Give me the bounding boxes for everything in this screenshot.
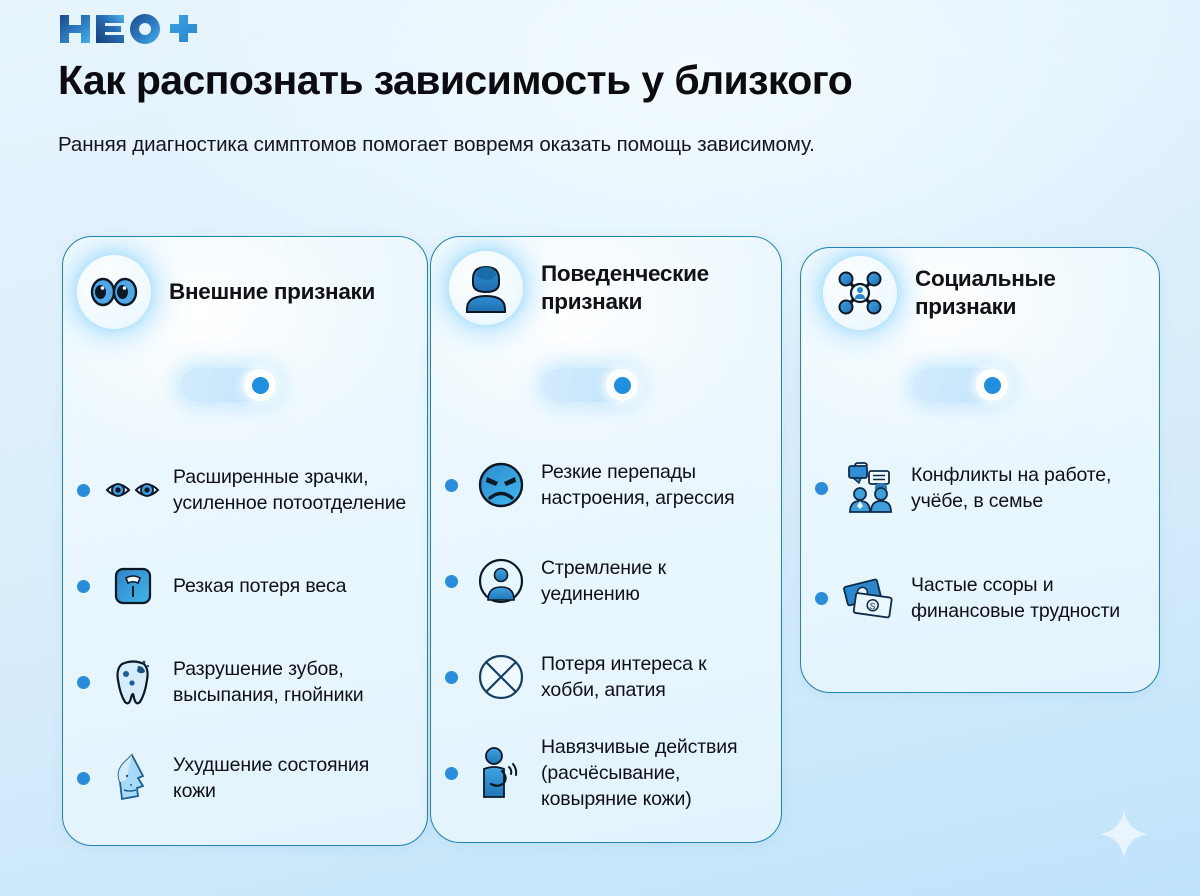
conflict-people-icon bbox=[843, 460, 899, 516]
bullet-dot bbox=[815, 592, 828, 605]
list-item: Навязчивые действия (расчёсывание, ковыр… bbox=[431, 725, 781, 821]
decayed-tooth-icon bbox=[105, 654, 161, 710]
bullet-dot bbox=[445, 767, 458, 780]
weight-scale-icon bbox=[105, 558, 161, 614]
bullet-dot bbox=[77, 580, 90, 593]
card-social-signs: Социальные признаки bbox=[800, 247, 1160, 693]
list-item-label: Конфликты на работе, учёбе, в семье bbox=[911, 462, 1147, 514]
list-item: Резкие перепады настроения, агрессия bbox=[431, 437, 781, 533]
bullet-dot bbox=[815, 482, 828, 495]
list-item-label: Навязчивые действия (расчёсывание, ковыр… bbox=[541, 734, 769, 812]
dilated-pupils-icon bbox=[105, 462, 161, 518]
card-external-signs: Внешние признаки bbox=[62, 236, 428, 846]
signs-list: Расширенные зрачки, усиленное потоотделе… bbox=[63, 442, 427, 826]
bullet-dot bbox=[445, 575, 458, 588]
signs-list: Резкие перепады настроения, агрессия bbox=[431, 437, 781, 821]
list-item: Потеря интереса к хобби, апатия bbox=[431, 629, 781, 725]
list-item: Разрушение зубов, высыпания, гнойники bbox=[63, 634, 427, 730]
list-item: Стремление к уединению bbox=[431, 533, 781, 629]
toggle-behavioral[interactable] bbox=[543, 368, 639, 402]
list-item: Резкая потеря веса bbox=[63, 538, 427, 634]
bullet-dot bbox=[77, 676, 90, 689]
cards-container: Внешние признаки bbox=[0, 0, 1200, 896]
bullet-dot bbox=[445, 671, 458, 684]
toggle-social[interactable] bbox=[913, 368, 1009, 402]
social-network-icon bbox=[823, 256, 897, 330]
toggle-knob bbox=[976, 369, 1008, 401]
list-item: Конфликты на работе, учёбе, в семье bbox=[801, 433, 1159, 543]
list-item-label: Резкие перепады настроения, агрессия bbox=[541, 459, 769, 511]
list-item-label: Частые ссоры и финансовые трудности bbox=[911, 572, 1147, 624]
money-banknotes-icon: S bbox=[843, 570, 899, 626]
angry-face-icon bbox=[473, 457, 529, 513]
card-title: Поведенческие признаки bbox=[541, 260, 781, 317]
infographic-page: Как распознать зависимость у близкого Ра… bbox=[0, 0, 1200, 896]
signs-list: Конфликты на работе, учёбе, в семье bbox=[801, 433, 1159, 653]
crossed-circle-icon bbox=[473, 649, 529, 705]
scratching-person-icon bbox=[473, 745, 529, 801]
card-title: Внешние признаки bbox=[169, 278, 375, 306]
eyes-icon bbox=[77, 255, 151, 329]
card-header: Поведенческие признаки bbox=[449, 251, 781, 325]
bullet-dot bbox=[445, 479, 458, 492]
face-skin-icon bbox=[105, 750, 161, 806]
list-item-label: Резкая потеря веса bbox=[173, 573, 346, 599]
bullet-dot bbox=[77, 772, 90, 785]
lonely-person-icon bbox=[473, 553, 529, 609]
list-item-label: Стремление к уединению bbox=[541, 555, 769, 607]
list-item-label: Разрушение зубов, высыпания, гнойники bbox=[173, 656, 415, 708]
card-title: Социальные признаки bbox=[915, 265, 1159, 322]
list-item-label: Потеря интереса к хобби, апатия bbox=[541, 651, 769, 703]
list-item: S Частые ссоры и финансовые трудности bbox=[801, 543, 1159, 653]
toggle-knob bbox=[606, 369, 638, 401]
list-item: Расширенные зрачки, усиленное потоотделе… bbox=[63, 442, 427, 538]
toggle-knob bbox=[244, 369, 276, 401]
card-header: Социальные признаки bbox=[823, 256, 1159, 330]
list-item: Ухудшение состояния кожи bbox=[63, 730, 427, 826]
four-point-sparkle-icon bbox=[1100, 810, 1148, 858]
toggle-external[interactable] bbox=[181, 368, 277, 402]
list-item-label: Ухудшение состояния кожи bbox=[173, 752, 415, 804]
person-avatar-icon bbox=[449, 251, 523, 325]
bullet-dot bbox=[77, 484, 90, 497]
list-item-label: Расширенные зрачки, усиленное потоотделе… bbox=[173, 464, 415, 516]
card-header: Внешние признаки bbox=[77, 255, 375, 329]
card-behavioral-signs: Поведенческие признаки bbox=[430, 236, 782, 843]
